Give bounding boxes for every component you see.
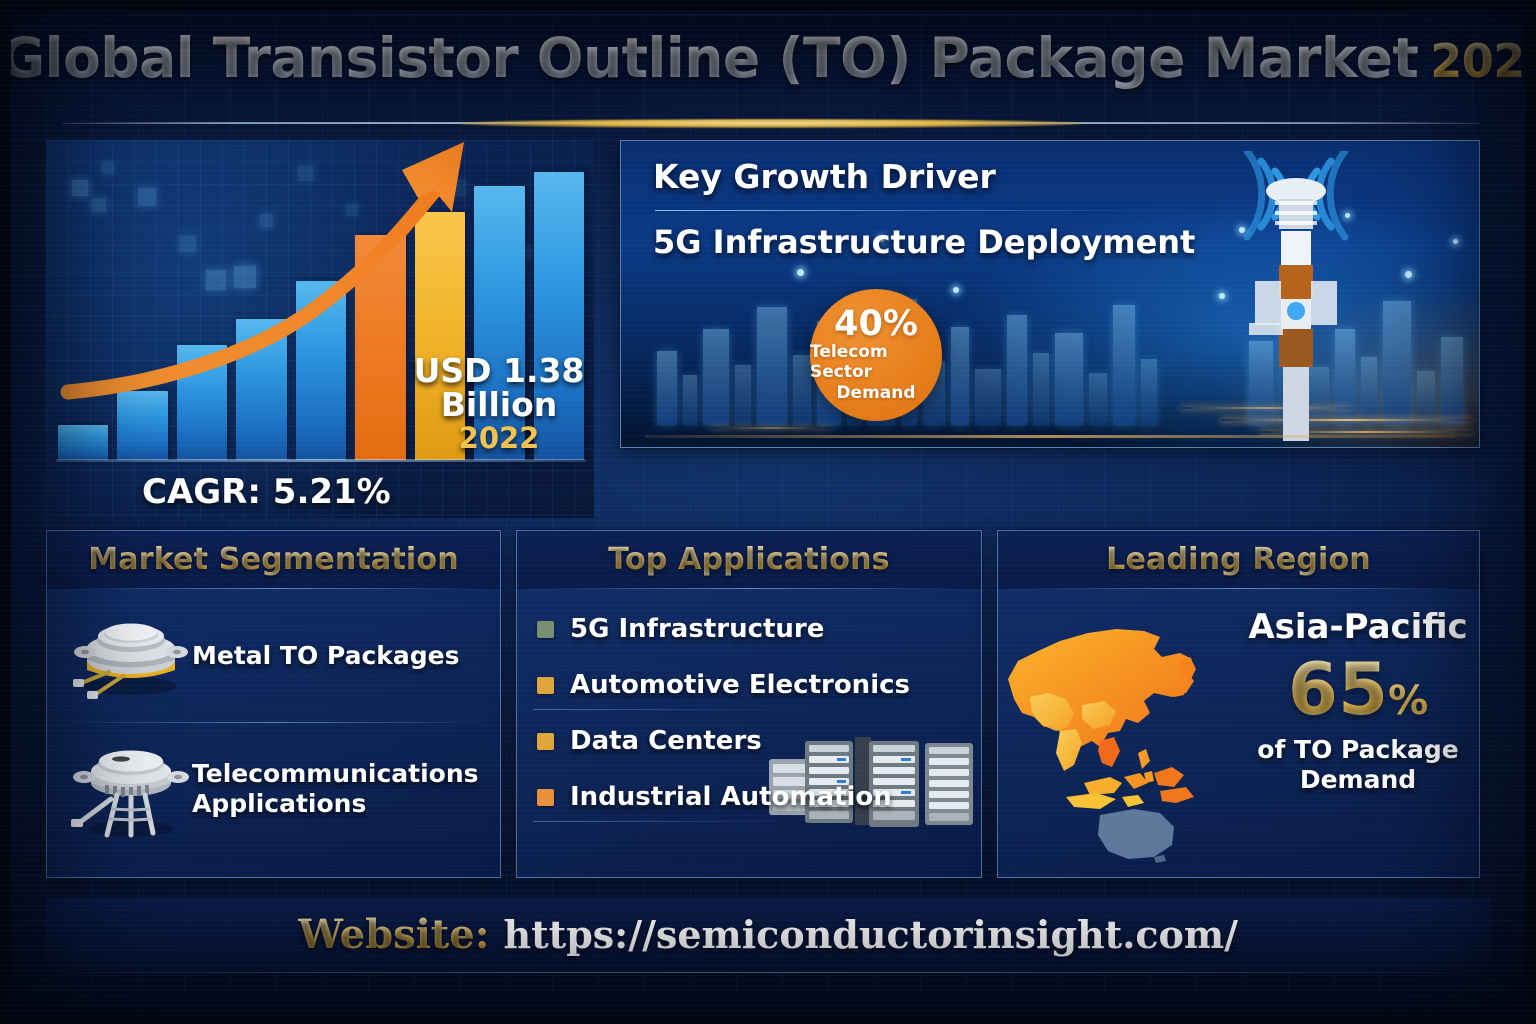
segmentation-item-0-label: Metal TO Packages	[192, 641, 460, 671]
badge-percent: 40%	[834, 307, 918, 342]
bar-3	[177, 345, 227, 460]
region-percent-number: 65	[1288, 647, 1388, 731]
driver-subtitle: 5G Infrastructure Deployment	[653, 223, 1195, 261]
applications-divider	[533, 821, 783, 822]
bar-5	[296, 281, 346, 460]
application-item-2-label: Data Centers	[570, 726, 762, 756]
region-heading: Leading Region	[998, 531, 1479, 589]
segmentation-item-1-label: Telecommunications Applications	[192, 759, 500, 818]
title-years-text: 2026~2034	[1430, 34, 1536, 88]
segmentation-heading: Market Segmentation	[47, 531, 500, 589]
badge-line1: Telecom Sector	[810, 342, 942, 383]
market-segmentation-panel: Market Segmentation	[46, 530, 501, 878]
bullet-square-icon	[537, 733, 554, 750]
applications-heading: Top Applications	[517, 531, 981, 589]
application-item-1-label: Automotive Electronics	[570, 670, 910, 700]
bullet-square-icon	[537, 789, 554, 806]
bullet-square-icon	[537, 677, 554, 694]
asia-pacific-map	[1004, 601, 1256, 863]
bar-4	[236, 319, 286, 460]
region-subtitle-line1: of TO Package	[1247, 735, 1469, 765]
driver-title: Key Growth Driver	[653, 157, 1195, 196]
metal-to-package-icon	[67, 604, 192, 708]
segmentation-item-0[interactable]: Metal TO Packages	[47, 589, 500, 722]
segmentation-item-1[interactable]: Telecommunications Applications	[47, 722, 500, 855]
bar-2	[117, 391, 167, 460]
telecom-demand-badge: 40% Telecom Sector Demand	[810, 289, 942, 421]
chart-value-year: 2022	[410, 424, 588, 454]
footer-bar: Website: https://semiconductorinsight.co…	[46, 898, 1490, 970]
application-item-3-label: Industrial Automation	[570, 782, 892, 812]
applications-heading-text: Top Applications	[608, 542, 889, 577]
telecom-to-package-icon	[67, 737, 192, 841]
applications-divider	[533, 709, 783, 710]
chart-baseline	[56, 459, 586, 462]
driver-underline	[645, 435, 1455, 438]
website-url[interactable]: https://semiconductorinsight.com/	[503, 912, 1238, 957]
region-text-block: Asia-Pacific 65% of TO Package Demand	[1247, 607, 1469, 795]
page-header: Global Transistor Outline (TO) Package M…	[0, 26, 1536, 116]
cagr-label: CAGR: 5.21%	[142, 472, 391, 512]
chart-value-line2: Billion	[410, 388, 588, 422]
application-item-3[interactable]: Industrial Automation	[537, 769, 971, 825]
infographic-page: Global Transistor Outline (TO) Package M…	[0, 0, 1536, 1024]
application-item-0-label: 5G Infrastructure	[570, 614, 824, 644]
bullet-square-icon	[537, 621, 554, 638]
title-divider	[62, 118, 1480, 130]
market-growth-chart: USD 1.38 Billion 2022 CAGR: 5.21%	[46, 140, 594, 518]
region-percent-symbol: %	[1388, 678, 1428, 724]
chart-value-line1: USD 1.38	[410, 354, 588, 388]
top-applications-panel: Top Applications	[516, 530, 982, 878]
region-subtitle: of TO Package Demand	[1247, 735, 1469, 795]
bar-6	[355, 235, 405, 460]
badge-line2: Demand	[836, 383, 915, 403]
segmentation-heading-text: Market Segmentation	[88, 542, 459, 577]
title-main-text: Global Transistor Outline (TO) Package M…	[0, 26, 1418, 90]
chart-value-callout: USD 1.38 Billion 2022	[410, 354, 588, 454]
title-divider-glow	[459, 119, 1083, 128]
website-label: Website:	[298, 911, 489, 958]
driver-rule	[655, 210, 1160, 211]
driver-text-block: Key Growth Driver 5G Infrastructure Depl…	[653, 157, 1195, 261]
key-growth-driver-panel: Key Growth Driver 5G Infrastructure Depl…	[620, 140, 1480, 448]
region-heading-text: Leading Region	[1106, 542, 1371, 577]
5g-tower-icon	[1191, 151, 1411, 441]
bar-1	[58, 425, 108, 460]
region-name: Asia-Pacific	[1247, 607, 1469, 647]
region-percent: 65%	[1247, 653, 1469, 725]
page-title: Global Transistor Outline (TO) Package M…	[0, 26, 1536, 90]
application-item-1[interactable]: Automotive Electronics	[537, 657, 971, 713]
region-body: Asia-Pacific 65% of TO Package Demand	[998, 589, 1479, 877]
region-subtitle-line2: Demand	[1247, 765, 1469, 795]
leading-region-panel: Leading Region	[997, 530, 1480, 878]
application-item-2[interactable]: Data Centers	[537, 713, 971, 769]
application-item-0[interactable]: 5G Infrastructure	[537, 601, 971, 657]
applications-list: 5G InfrastructureAutomotive ElectronicsD…	[537, 601, 971, 825]
